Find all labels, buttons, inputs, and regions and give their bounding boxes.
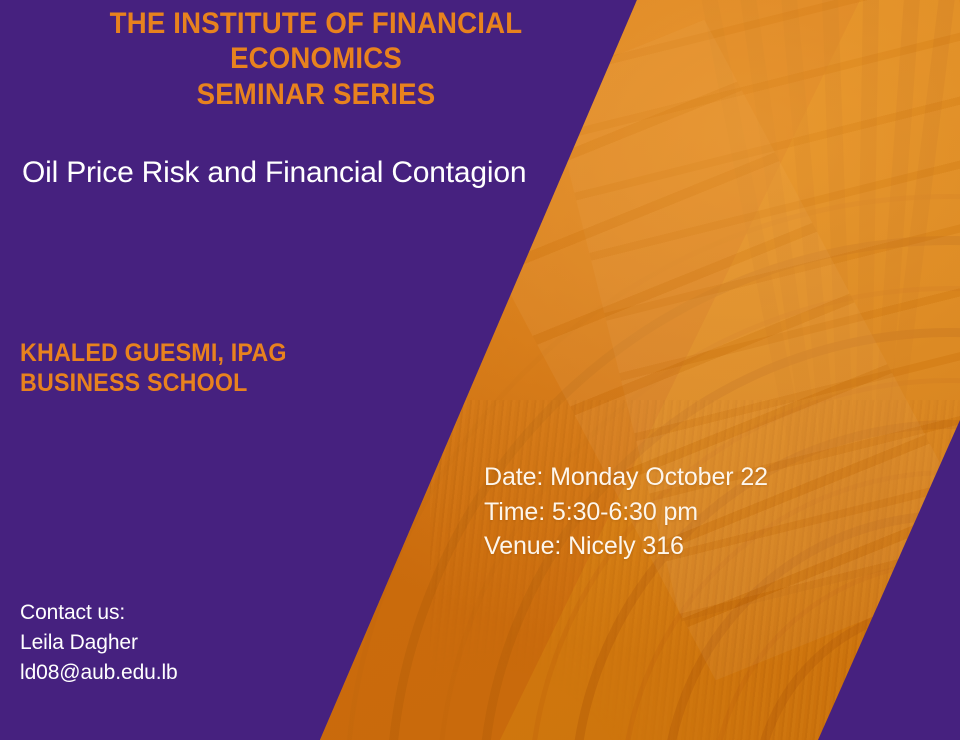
talk-title: Oil Price Risk and Financial Contagion [22,156,526,190]
contact-email[interactable]: ld08@aub.edu.lb [20,658,178,688]
event-venue: Venue: Nicely 316 [484,529,768,564]
masthead-title: THE INSTITUTE OF FINANCIAL ECONOMICS SEM… [25,6,606,112]
event-date: Date: Monday October 22 [484,460,768,495]
contact-block: Contact us: Leila Dagher ld08@aub.edu.lb [20,598,178,689]
seminar-poster: THE INSTITUTE OF FINANCIAL ECONOMICS SEM… [0,0,960,740]
speaker-line-1: KHALED GUESMI, IPAG [20,338,287,368]
speaker-line-2: BUSINESS SCHOOL [20,368,287,398]
contact-label: Contact us: [20,598,178,628]
speaker-block: KHALED GUESMI, IPAG BUSINESS SCHOOL [20,338,287,398]
event-details-block: Date: Monday October 22 Time: 5:30-6:30 … [484,460,768,564]
contact-name: Leila Dagher [20,628,178,658]
masthead-line-1: THE INSTITUTE OF FINANCIAL ECONOMICS [25,6,606,77]
event-time: Time: 5:30-6:30 pm [484,495,768,530]
masthead-line-2: SEMINAR SERIES [25,77,606,112]
